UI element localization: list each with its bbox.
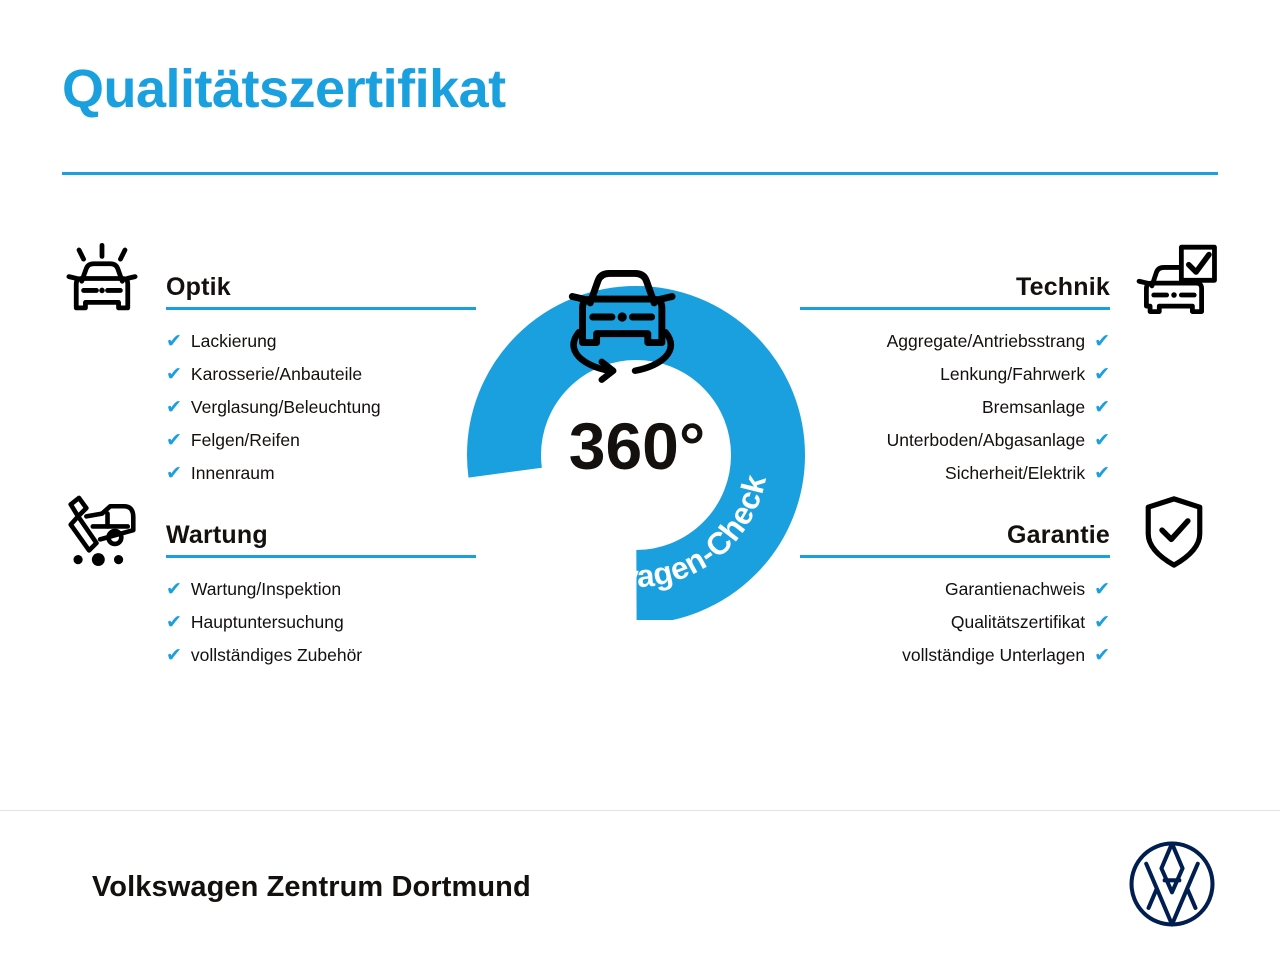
- list-item: ✔Felgen/Reifen: [166, 431, 476, 450]
- section-title: Technik: [1016, 273, 1110, 302]
- list-item: Qualitätszertifikat✔: [800, 613, 1110, 632]
- list-item: ✔Hauptuntersuchung: [166, 613, 476, 632]
- list-item-label: vollständiges Zubehör: [191, 647, 362, 665]
- list-item: Lenkung/Fahrwerk✔: [800, 365, 1110, 384]
- check-icon: ✔: [1094, 431, 1110, 450]
- check-icon: ✔: [166, 431, 182, 450]
- list-item: ✔Lackierung: [166, 332, 476, 351]
- section-header: Technik: [800, 252, 1220, 324]
- check-icon: ✔: [166, 580, 182, 599]
- shield-check-icon: [1128, 486, 1220, 578]
- section-divider: [800, 555, 1110, 558]
- car-shine-icon: [56, 238, 148, 330]
- dealer-name: Volkswagen Zentrum Dortmund: [92, 873, 531, 902]
- check-icon: ✔: [166, 613, 182, 632]
- check-icon: ✔: [166, 464, 182, 483]
- check-icon: ✔: [1094, 398, 1110, 417]
- list-item-label: Lenkung/Fahrwerk: [940, 366, 1085, 384]
- list-item: Garantienachweis✔: [800, 580, 1110, 599]
- section-header: Garantie: [800, 500, 1220, 572]
- check-icon: ✔: [1094, 646, 1110, 665]
- list-item: ✔Verglasung/Beleuchtung: [166, 398, 476, 417]
- footer-divider: [0, 810, 1280, 811]
- list-item: Aggregate/Antriebsstrang✔: [800, 332, 1110, 351]
- list-item-label: Hauptuntersuchung: [191, 614, 344, 632]
- check-icon: ✔: [1094, 580, 1110, 599]
- checklist-garantie: Garantienachweis✔ Qualitätszertifikat✔ v…: [800, 580, 1220, 665]
- list-item-label: vollständige Unterlagen: [902, 647, 1085, 665]
- check-icon: ✔: [1094, 332, 1110, 351]
- list-item-label: Felgen/Reifen: [191, 432, 300, 450]
- list-item-label: Karosserie/Anbauteile: [191, 366, 362, 384]
- badge-center-text: 360°: [569, 409, 706, 483]
- check-icon: ✔: [1094, 464, 1110, 483]
- gebrauchtwagen-check-badge: Gebrauchtwagen-Check 360°: [464, 245, 809, 620]
- list-item: Bremsanlage✔: [800, 398, 1110, 417]
- section-title: Wartung: [166, 521, 268, 550]
- list-item: vollständige Unterlagen✔: [800, 646, 1110, 665]
- section-title: Optik: [166, 273, 231, 302]
- list-item: Unterboden/Abgasanlage✔: [800, 431, 1110, 450]
- check-icon: ✔: [166, 332, 182, 351]
- check-icon: ✔: [1094, 613, 1110, 632]
- section-garantie: Garantie Garantienachweis✔ Qualitätszert…: [800, 500, 1220, 679]
- section-wartung: Wartung ✔Wartung/Inspektion ✔Hauptunters…: [56, 500, 476, 679]
- checklist-wartung: ✔Wartung/Inspektion ✔Hauptuntersuchung ✔…: [56, 580, 476, 665]
- volkswagen-logo: [1126, 838, 1218, 930]
- section-header: Wartung: [56, 500, 476, 572]
- list-item-label: Wartung/Inspektion: [191, 581, 341, 599]
- certificate-page: Qualitätszertifikat: [0, 0, 1280, 960]
- section-divider: [166, 307, 476, 310]
- list-item-label: Garantienachweis: [945, 581, 1085, 599]
- list-item-label: Qualitätszertifikat: [951, 614, 1085, 632]
- car-checkbox-icon: [1128, 238, 1220, 330]
- section-optik: Optik ✔Lackierung ✔Karosserie/Anbauteile…: [56, 252, 476, 497]
- list-item-label: Innenraum: [191, 465, 275, 483]
- list-item: ✔vollständiges Zubehör: [166, 646, 476, 665]
- section-divider: [800, 307, 1110, 310]
- list-item-label: Verglasung/Beleuchtung: [191, 399, 381, 417]
- list-item: ✔Wartung/Inspektion: [166, 580, 476, 599]
- check-icon: ✔: [166, 646, 182, 665]
- car-service-tool-icon: [56, 486, 148, 578]
- check-icon: ✔: [1094, 365, 1110, 384]
- list-item-label: Unterboden/Abgasanlage: [887, 432, 1086, 450]
- page-title: Qualitätszertifikat: [62, 58, 506, 120]
- checklist-technik: Aggregate/Antriebsstrang✔ Lenkung/Fahrwe…: [800, 332, 1220, 483]
- list-item-label: Bremsanlage: [982, 399, 1085, 417]
- list-item: ✔Innenraum: [166, 464, 476, 483]
- list-item-label: Lackierung: [191, 333, 277, 351]
- checklist-optik: ✔Lackierung ✔Karosserie/Anbauteile ✔Verg…: [56, 332, 476, 483]
- list-item: Sicherheit/Elektrik✔: [800, 464, 1110, 483]
- check-icon: ✔: [166, 398, 182, 417]
- section-divider: [166, 555, 476, 558]
- check-icon: ✔: [166, 365, 182, 384]
- section-header: Optik: [56, 252, 476, 324]
- section-technik: Technik Aggregate/Antriebsstrang✔ Lenkun…: [800, 252, 1220, 497]
- list-item-label: Aggregate/Antriebsstrang: [887, 333, 1085, 351]
- section-title: Garantie: [1007, 521, 1110, 550]
- title-divider: [62, 172, 1218, 175]
- list-item-label: Sicherheit/Elektrik: [945, 465, 1085, 483]
- list-item: ✔Karosserie/Anbauteile: [166, 365, 476, 384]
